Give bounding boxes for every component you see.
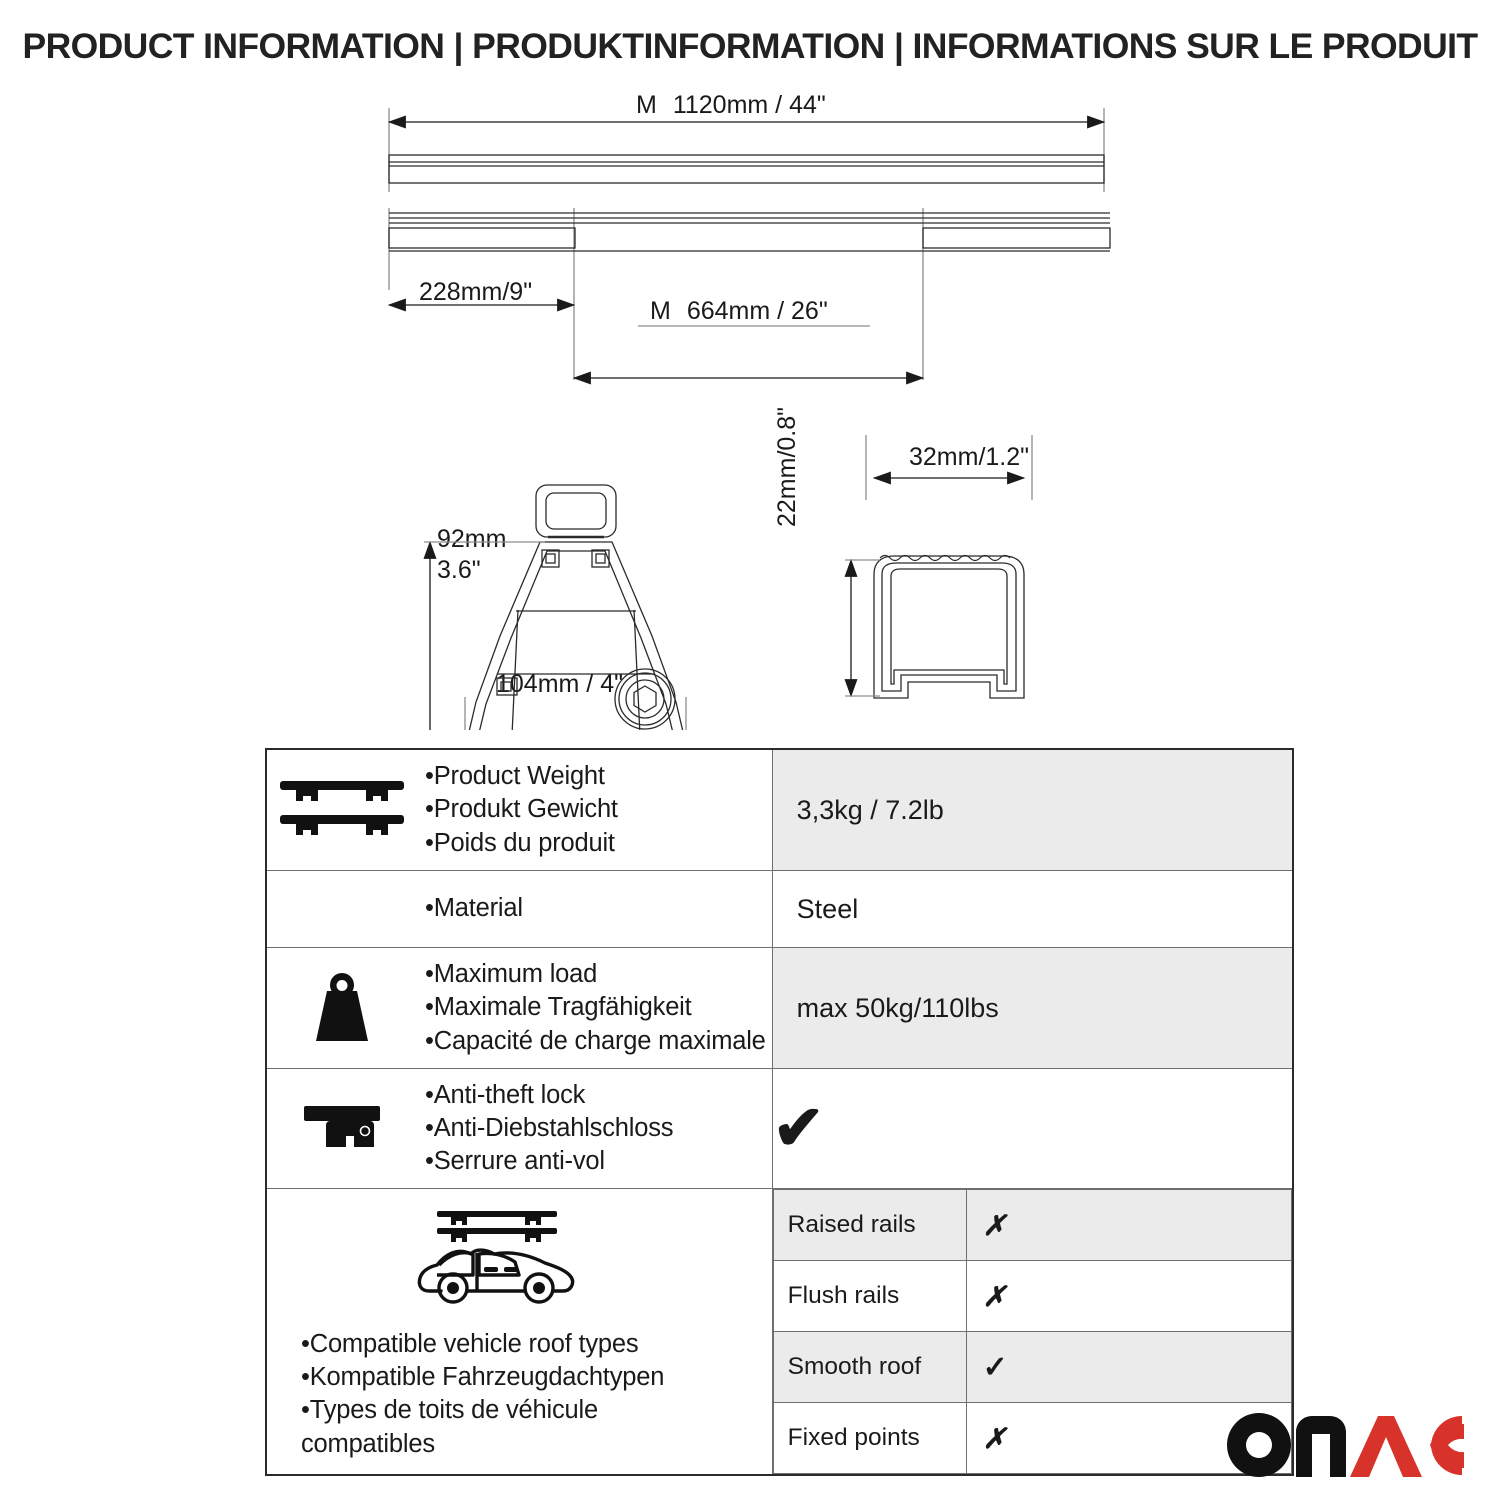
omac-logo-red-part — [1350, 1416, 1464, 1477]
maximum-load-label-cell: •Maximum load •Maximale Tragfähigkeit •C… — [266, 948, 772, 1069]
omac-logo — [1226, 1412, 1466, 1478]
crossbar-pair-icon-svg — [278, 775, 406, 845]
roof-type-support-mark: ✓ — [966, 1332, 1291, 1403]
label-en: •Product Weight — [425, 760, 618, 793]
material-label-cell: •Material — [266, 871, 772, 948]
maximum-load-labels: •Maximum load •Maximale Tragfähigkeit •C… — [425, 958, 766, 1057]
omac-logo-svg — [1226, 1412, 1466, 1478]
roof-type-name: Raised rails — [773, 1190, 966, 1261]
label-fr: •Types de toits de véhicule — [301, 1394, 664, 1427]
label-fr: •Capacité de charge maximale — [425, 1025, 766, 1058]
roof-type-row-smooth-roof: Smooth roof ✓ — [773, 1332, 1291, 1403]
compatibility-labels: •Compatible vehicle roof types •Kompatib… — [301, 1328, 664, 1461]
roof-types-subtable-cell: Raised rails ✗ Flush rails ✗ Smooth roof… — [772, 1189, 1293, 1476]
crossbar-pair-icon — [267, 775, 417, 845]
lock-icon — [267, 1100, 417, 1158]
product-weight-label-cell: •Product Weight •Produkt Gewicht •Poids … — [266, 749, 772, 871]
omac-logo-dark-part — [1227, 1413, 1346, 1477]
label-de: •Produkt Gewicht — [425, 793, 618, 826]
anti-theft-lock-labels: •Anti-theft lock •Anti-Diebstahlschloss … — [425, 1079, 673, 1178]
material-labels: •Material — [425, 892, 523, 925]
product-weight-value: 3,3kg / 7.2lb — [772, 749, 1293, 871]
label-en: •Anti-theft lock — [425, 1079, 673, 1112]
roof-type-name: Flush rails — [773, 1261, 966, 1332]
roof-type-row-fixed-points: Fixed points ✗ — [773, 1403, 1291, 1474]
label-de: •Anti-Diebstahlschloss — [425, 1112, 673, 1145]
car-with-roof-rack-icon — [411, 1205, 583, 1318]
roof-type-support-mark: ✗ — [966, 1190, 1291, 1261]
label-de: •Kompatible Fahrzeugdachtypen — [301, 1361, 664, 1394]
compatibility-label-cell: •Compatible vehicle roof types •Kompatib… — [266, 1189, 772, 1476]
product-weight-labels: •Product Weight •Produkt Gewicht •Poids … — [425, 760, 618, 859]
roof-type-name: Smooth roof — [773, 1332, 966, 1403]
table-row-anti-theft-lock: •Anti-theft lock •Anti-Diebstahlschloss … — [266, 1069, 1293, 1189]
weight-icon-svg — [307, 971, 377, 1045]
product-spec-table: •Product Weight •Produkt Gewicht •Poids … — [265, 748, 1294, 1476]
car-with-roof-rack-icon-svg — [411, 1205, 583, 1313]
roof-types-table: Raised rails ✗ Flush rails ✗ Smooth roof… — [773, 1189, 1292, 1474]
table-row-compatible-roof-types: •Compatible vehicle roof types •Kompatib… — [266, 1189, 1293, 1476]
label-en: •Material — [425, 892, 523, 925]
label-fr: •Poids du produit — [425, 827, 618, 860]
maximum-load-value: max 50kg/110lbs — [772, 948, 1293, 1069]
roof-type-support-mark: ✗ — [966, 1261, 1291, 1332]
anti-theft-lock-label-cell: •Anti-theft lock •Anti-Diebstahlschloss … — [266, 1069, 772, 1189]
label-en: •Maximum load — [425, 958, 766, 991]
table-row-maximum-load: •Maximum load •Maximale Tragfähigkeit •C… — [266, 948, 1293, 1069]
drawing-svg — [0, 80, 1500, 730]
label-de: •Maximale Tragfähigkeit — [425, 991, 766, 1024]
roof-type-name: Fixed points — [773, 1403, 966, 1474]
label-en: •Compatible vehicle roof types — [301, 1328, 664, 1361]
page-title: PRODUCT INFORMATION | PRODUKTINFORMATION… — [0, 26, 1500, 67]
technical-drawing-area: M1120mm / 44" 228mm/9" M664mm / 26" 92mm… — [0, 80, 1500, 730]
lock-icon-svg — [300, 1100, 384, 1158]
anti-theft-lock-value: ✔ — [772, 1069, 1293, 1189]
weight-icon — [267, 971, 417, 1045]
table-row-product-weight: •Product Weight •Produkt Gewicht •Poids … — [266, 749, 1293, 871]
label-fr: •Serrure anti-vol — [425, 1145, 673, 1178]
roof-type-row-raised-rails: Raised rails ✗ — [773, 1190, 1291, 1261]
material-value: Steel — [772, 871, 1293, 948]
roof-type-row-flush-rails: Flush rails ✗ — [773, 1261, 1291, 1332]
label-fr-cont: compatibles — [301, 1428, 664, 1461]
table-row-material: •Material Steel — [266, 871, 1293, 948]
